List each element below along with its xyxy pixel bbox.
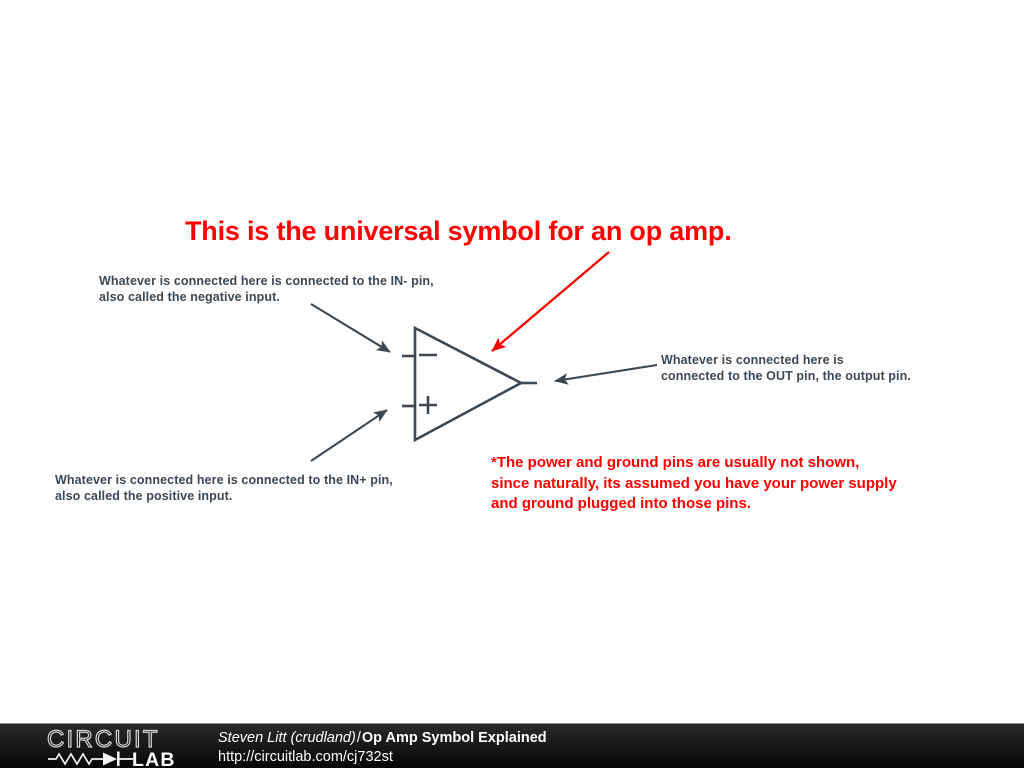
annotation-noninverting-input: Whatever is connected here is connected … <box>55 472 393 504</box>
pointer-arrow-headline <box>492 252 609 351</box>
footer-credit: Steven Litt (crudland)/Op Amp Symbol Exp… <box>218 729 547 767</box>
circuitlab-logo-icon[interactable]: CIRCUIT LAB <box>47 728 189 766</box>
footer-author: Steven Litt (crudland) <box>218 730 356 746</box>
annotation-output: Whatever is connected here is connected … <box>661 352 911 384</box>
page-title: This is the universal symbol for an op a… <box>185 216 732 247</box>
op-amp-symbol <box>402 328 537 440</box>
footer-credit-line: Steven Litt (crudland)/Op Amp Symbol Exp… <box>218 729 547 748</box>
annotation-inverting-input: Whatever is connected here is connected … <box>99 273 434 305</box>
logo-resistor-icon <box>48 754 103 764</box>
pointer-arrow-out <box>555 365 657 381</box>
pointer-arrow-in-plus <box>311 410 387 461</box>
logo-diode-triangle-icon <box>103 753 117 766</box>
logo-word-lab: LAB <box>132 749 176 766</box>
annotation-power-ground-footnote: *The power and ground pins are usually n… <box>491 453 897 515</box>
footer-title: Op Amp Symbol Explained <box>362 730 547 746</box>
footer-url[interactable]: http://circuitlab.com/cj732st <box>218 748 547 767</box>
op-amp-triangle <box>415 328 521 440</box>
slide-canvas: This is the universal symbol for an op a… <box>0 0 1024 768</box>
pointer-arrow-in-minus <box>311 304 390 352</box>
